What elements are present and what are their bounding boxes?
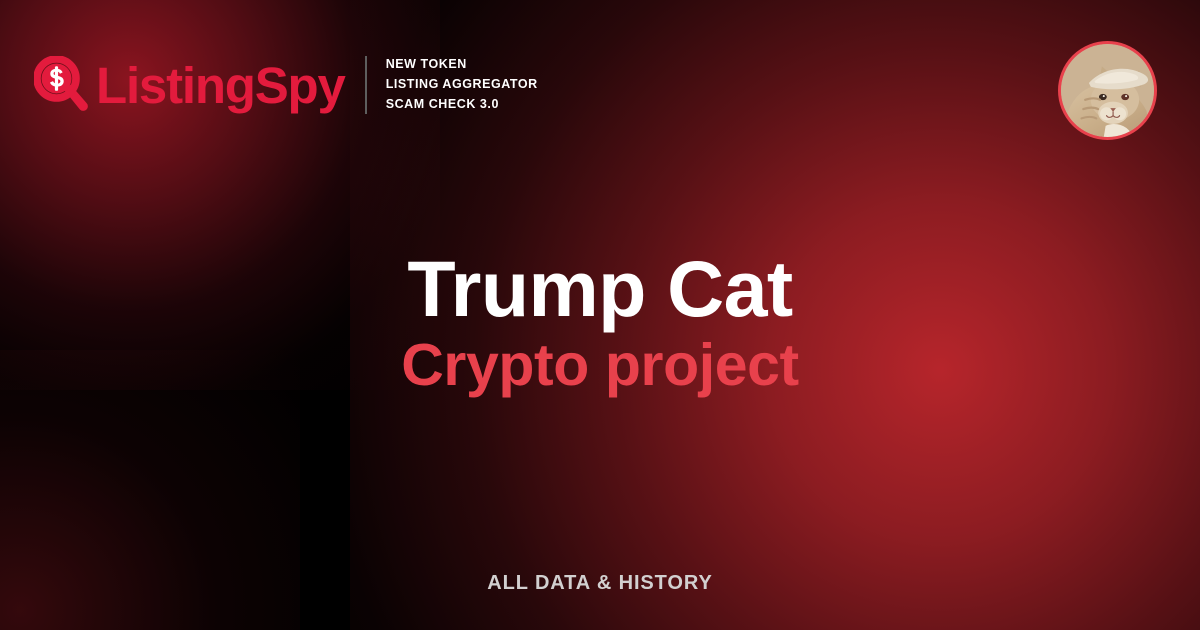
brand-lockup[interactable]: ListingSpy NEW TOKEN LISTING AGGREGATOR …: [34, 56, 538, 114]
page-subtitle: Crypto project: [0, 335, 1200, 397]
page-title: Trump Cat: [0, 248, 1200, 329]
tagline-line-3: SCAM CHECK 3.0: [386, 96, 538, 114]
footer-caption: ALL DATA & HISTORY: [487, 572, 712, 594]
brand-divider: [365, 56, 367, 114]
tagline-line-1: NEW TOKEN: [386, 56, 538, 74]
footer: ALL DATA & HISTORY: [0, 572, 1200, 595]
tagline-line-2: LISTING AGGREGATOR: [386, 76, 538, 94]
brand-name: ListingSpy: [96, 60, 345, 111]
hero-block: Trump Cat Crypto project: [0, 248, 1200, 397]
og-preview-card: ListingSpy NEW TOKEN LISTING AGGREGATOR …: [0, 0, 1200, 630]
avatar[interactable]: [1058, 41, 1157, 140]
magnifier-dollar-icon: [34, 56, 90, 114]
cat-avatar-image: [1061, 44, 1154, 137]
header: ListingSpy NEW TOKEN LISTING AGGREGATOR …: [0, 0, 1200, 175]
brand-tagline: NEW TOKEN LISTING AGGREGATOR SCAM CHECK …: [386, 56, 538, 113]
